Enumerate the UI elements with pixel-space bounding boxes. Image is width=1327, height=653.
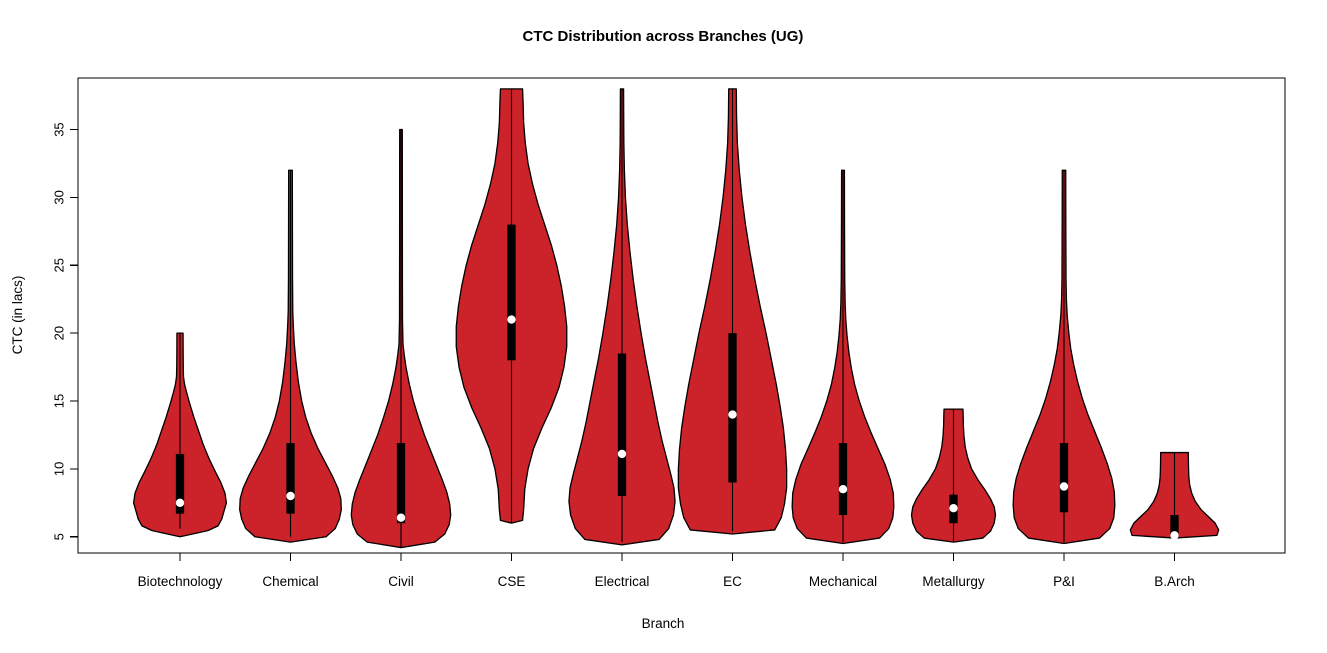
x-category-label-ec: EC [723,574,742,589]
x-category-label-cse: CSE [498,574,526,589]
iqr-box [839,443,847,515]
y-tick-label: 5 [51,533,66,540]
y-tick-label: 25 [51,258,66,272]
median-marker [618,450,626,458]
x-category-label-b-arch: B.Arch [1154,574,1195,589]
chart-canvas: CTC Distribution across Branches (UG) 51… [0,0,1327,653]
x-category-label-biotechnology: Biotechnology [138,574,223,589]
iqr-box [286,443,294,514]
median-marker [1060,482,1068,490]
iqr-box [728,333,736,482]
median-marker [397,514,405,522]
x-category-label-civil: Civil [388,574,414,589]
page-title: CTC Distribution across Branches (UG) [523,28,804,45]
y-tick-label: 30 [51,190,66,204]
iqr-box [397,443,405,523]
x-category-label-chemical: Chemical [262,574,318,589]
x-axis-title: Branch [642,616,685,631]
median-marker [1170,531,1178,539]
y-tick-label: 10 [51,462,66,476]
median-marker [839,485,847,493]
x-category-label-metallurgy: Metallurgy [922,574,985,589]
median-marker [286,492,294,500]
y-tick-label: 20 [51,326,66,340]
iqr-box [507,225,515,361]
median-marker [176,499,184,507]
y-axis-title: CTC (in lacs) [10,276,25,355]
iqr-box [618,354,626,497]
median-marker [949,504,957,512]
x-category-label-electrical: Electrical [595,574,650,589]
x-category-label-p-i: P&I [1053,574,1075,589]
y-tick-label: 35 [51,122,66,136]
chart-background [0,0,1327,653]
median-marker [507,315,515,323]
violin-plot-figure: CTC Distribution across Branches (UG) 51… [0,0,1327,653]
x-category-label-mechanical: Mechanical [809,574,877,589]
y-tick-label: 15 [51,394,66,408]
median-marker [728,410,736,418]
iqr-box [1060,443,1068,512]
